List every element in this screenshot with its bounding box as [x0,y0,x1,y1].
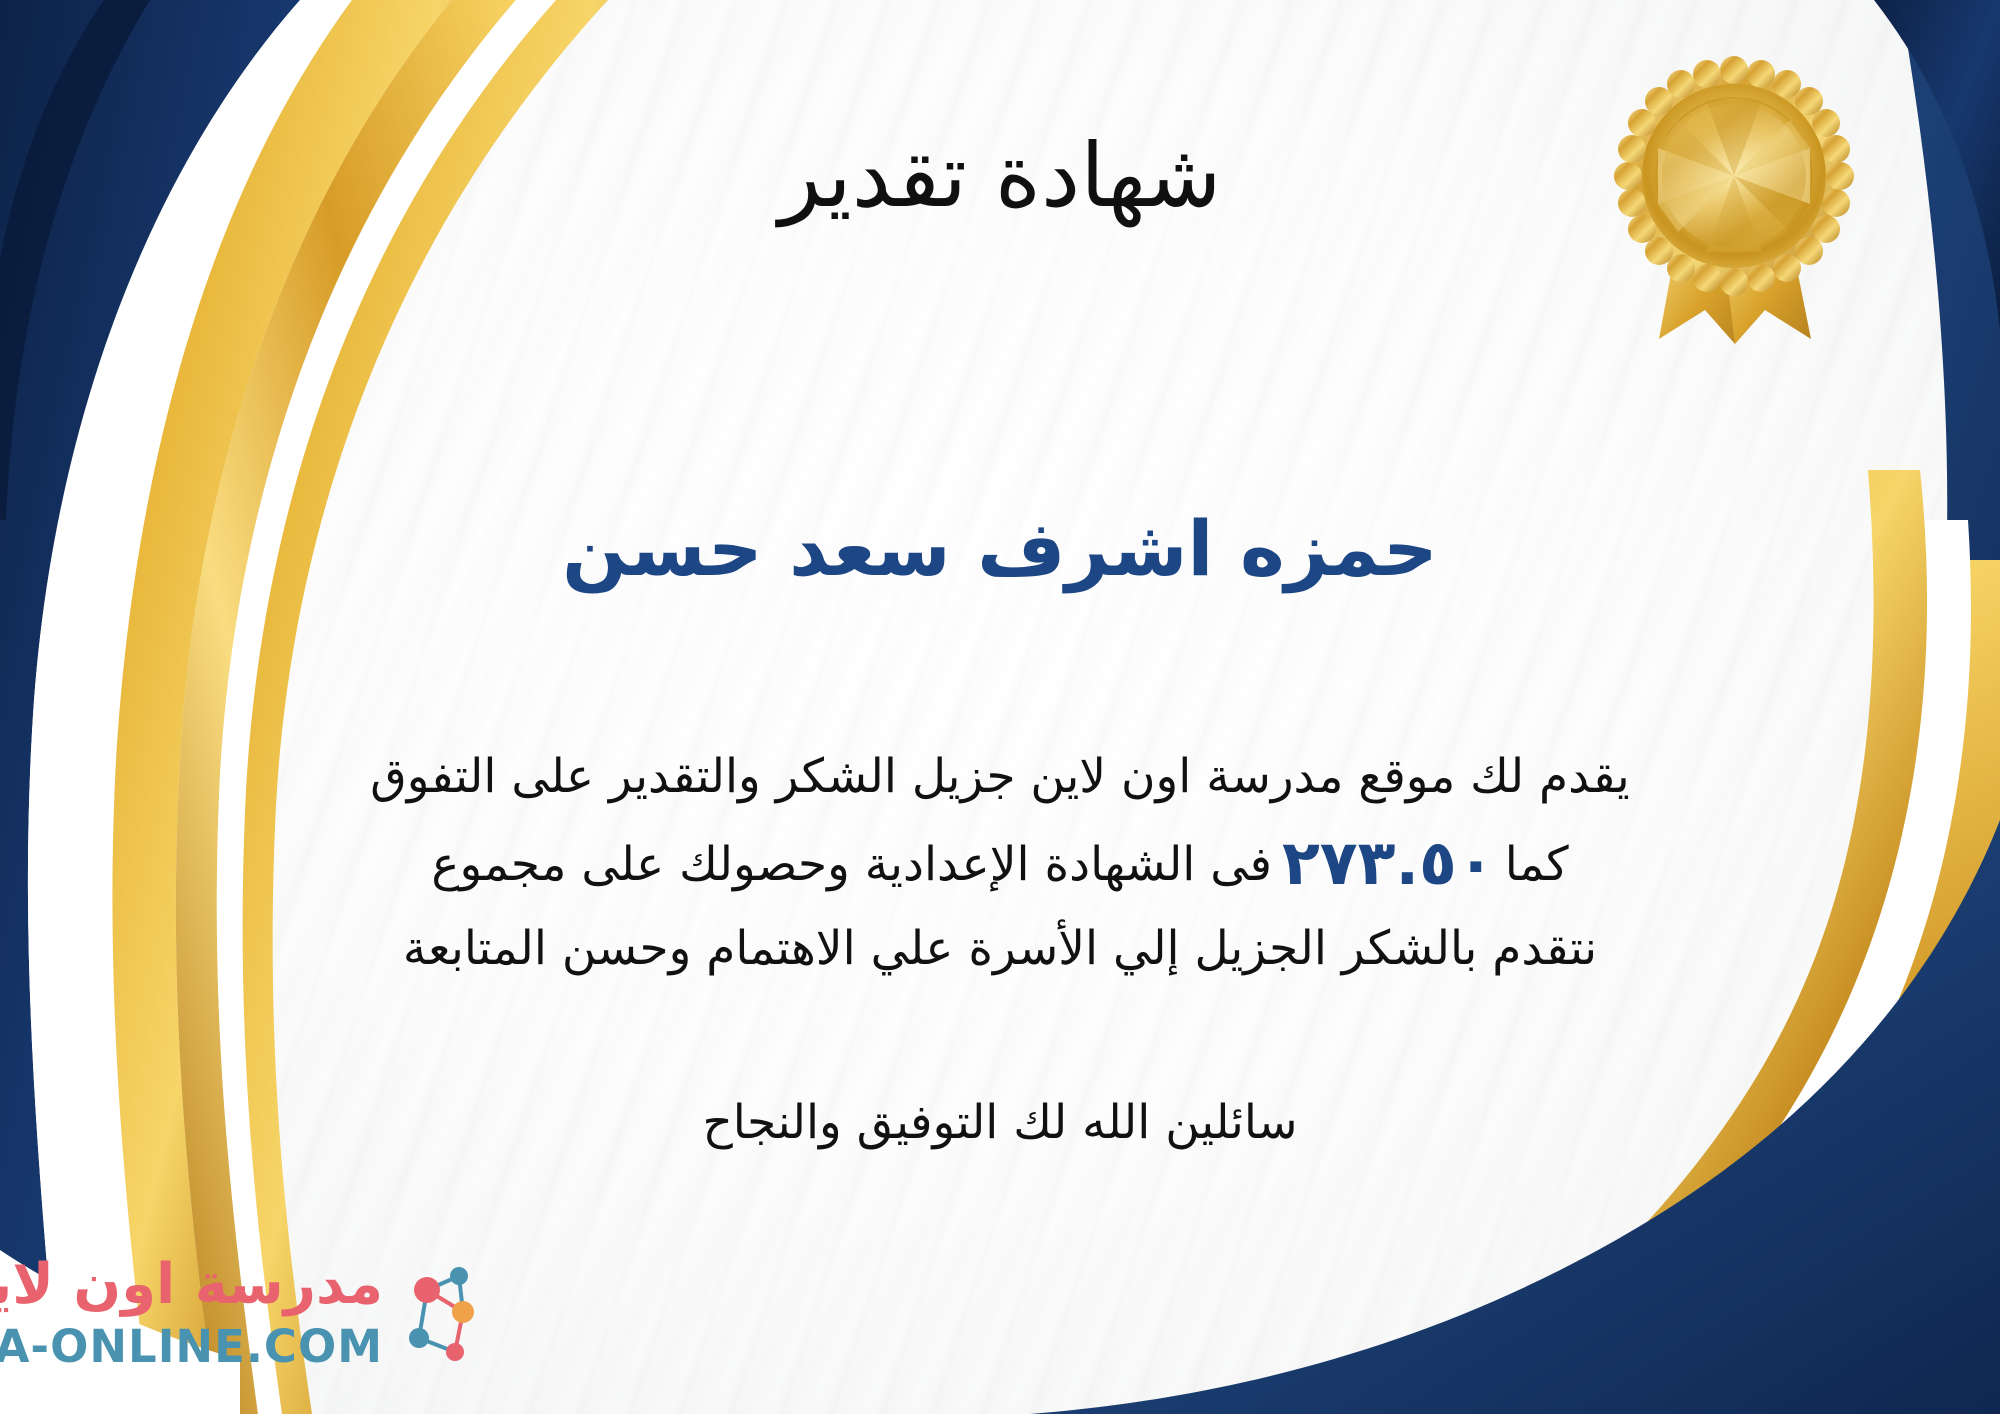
body-line-2-suffix: كما [1505,837,1569,892]
body-line-2: كما٢٧٣.٥٠فى الشهادة الإعدادية وحصولك على… [50,814,1950,912]
brand-name-arabic: مدرسة اون لاين [0,1252,383,1317]
body-line-1: يقدم لك موقع مدرسة اون لاين جزيل الشكر و… [50,740,1950,814]
score-value: ٢٧٣.٥٠ [1272,826,1505,899]
certificate-canvas: شهادة تقدير حمزه اشرف سعد حسن يقدم لك مو… [0,0,2000,1414]
closing-line: سائلين الله لك التوفيق والنجاح [0,1095,2000,1150]
body-line-3: نتقدم بالشكر الجزيل إلي الأسرة علي الاهت… [50,912,1950,986]
recipient-name: حمزه اشرف سعد حسن [0,505,2000,592]
brand-logo[interactable]: مدرسة اون لاين MADRSA-ONLINE.COM [28,1252,498,1392]
brand-website: MADRSA-ONLINE.COM [0,1320,383,1373]
network-nodes-icon [393,1260,498,1370]
certificate-title: شهادة تقدير [0,128,2000,225]
certificate-body: يقدم لك موقع مدرسة اون لاين جزيل الشكر و… [50,740,1950,986]
body-line-2-prefix: فى الشهادة الإعدادية وحصولك على مجموع [431,837,1272,892]
